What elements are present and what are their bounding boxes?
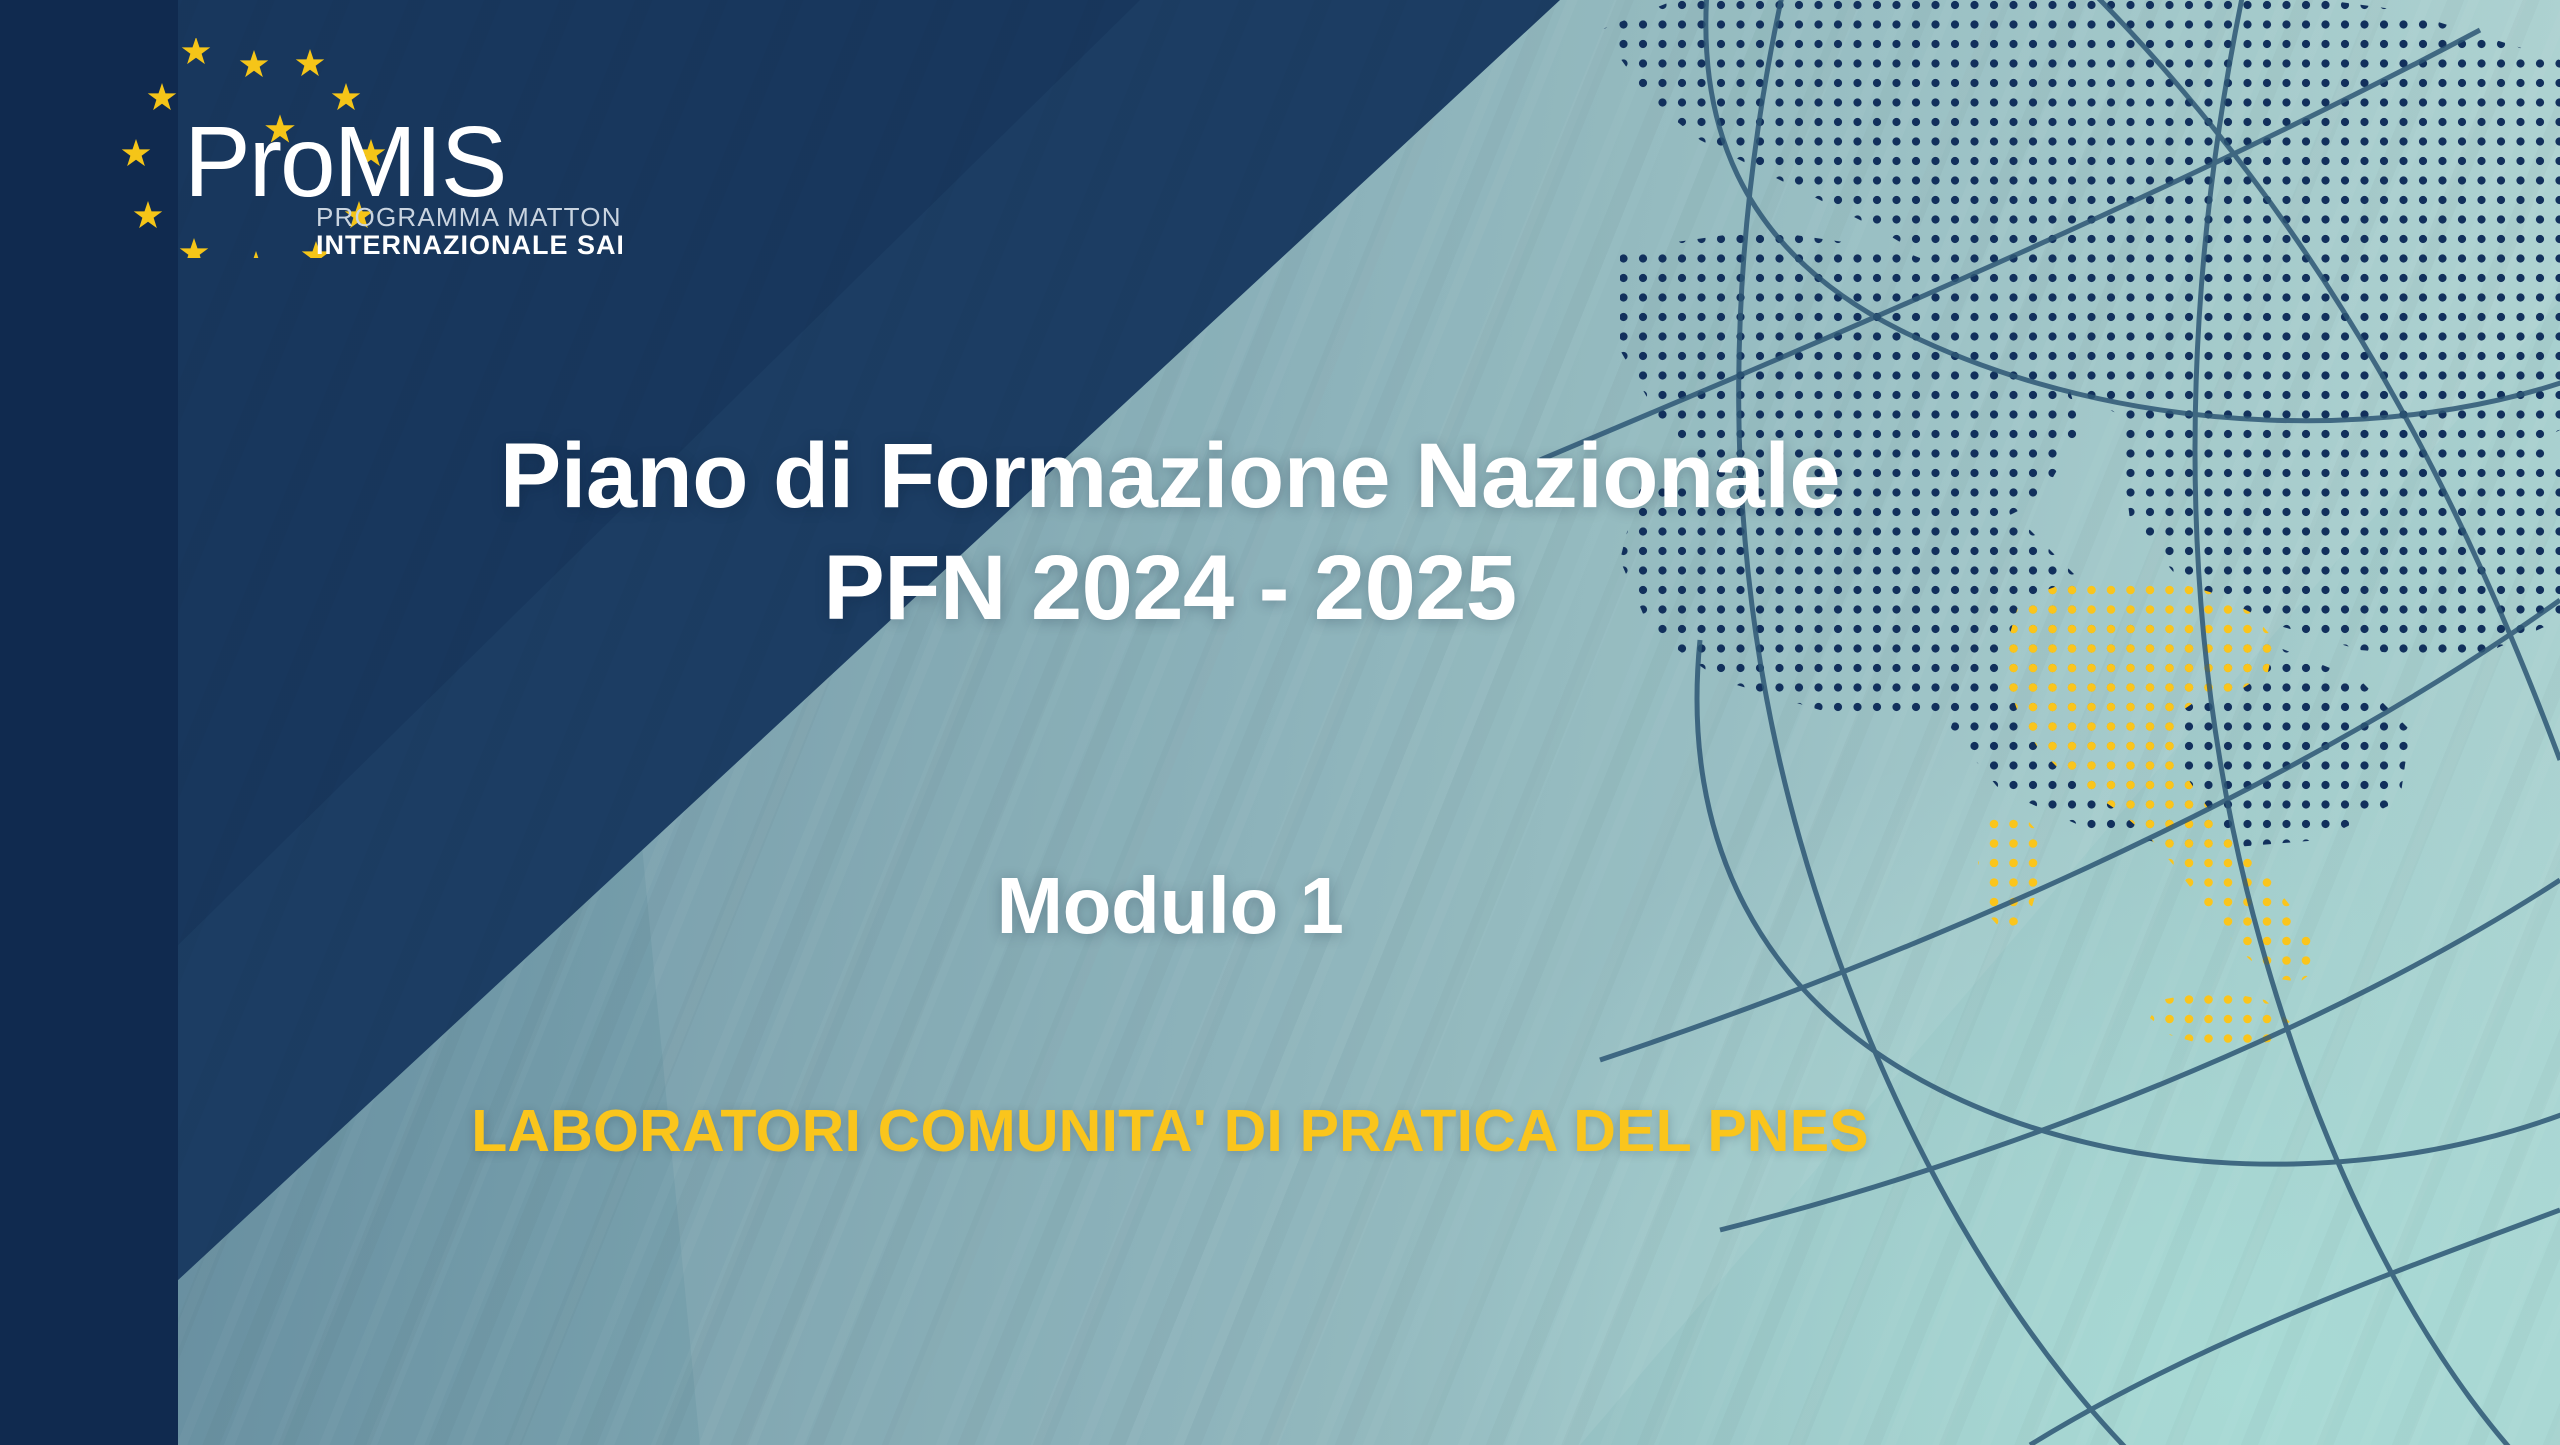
promis-tagline-line1: PROGRAMMA MATTONE	[316, 202, 622, 232]
promis-logo-svg: ProMIS PROGRAMMA MATTONE INTERNAZIONALE …	[62, 38, 622, 258]
promis-logo: ProMIS PROGRAMMA MATTONE INTERNAZIONALE …	[62, 38, 622, 258]
title-line-2: PFN 2024 - 2025	[180, 532, 2160, 644]
presentation-slide: ProMIS PROGRAMMA MATTONE INTERNAZIONALE …	[0, 0, 2560, 1445]
module-label: Modulo 1	[180, 860, 2160, 952]
title-line-1: Piano di Formazione Nazionale	[180, 420, 2160, 532]
subject-label: LABORATORI COMUNITA' DI PRATICA DEL PNES	[180, 1097, 2160, 1165]
slide-title-block: Piano di Formazione Nazionale PFN 2024 -…	[180, 420, 2160, 644]
promis-tagline-line2: INTERNAZIONALE SALUTE	[316, 230, 622, 258]
